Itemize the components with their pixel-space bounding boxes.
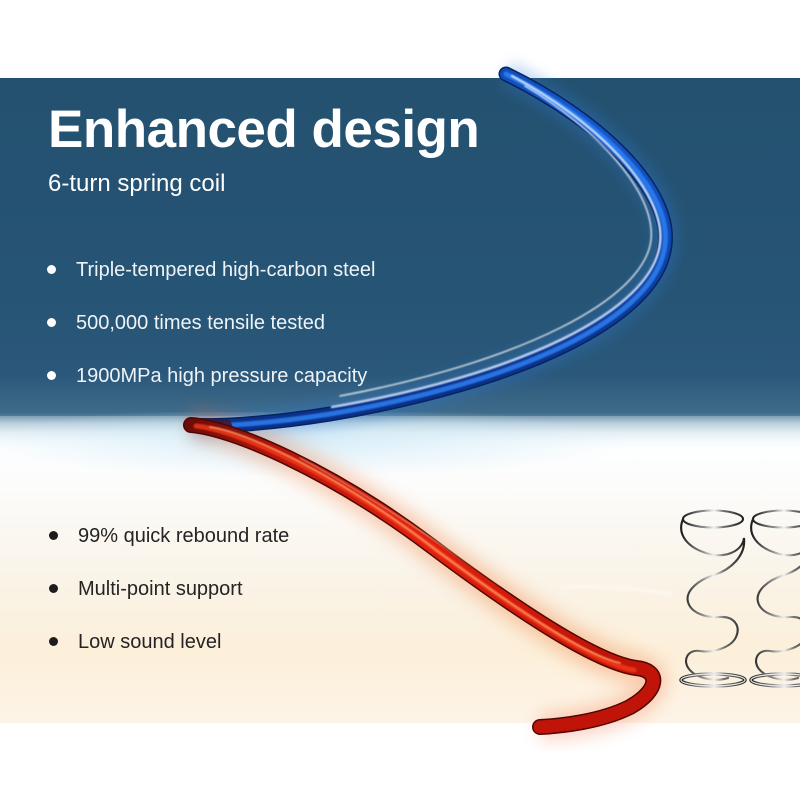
list-item-label: 500,000 times tensile tested [76,313,325,333]
list-item-label: Triple-tempered high-carbon steel [76,260,375,280]
bullet-dot-icon [49,637,58,646]
list-item: 1900MPa high pressure capacity [47,349,375,402]
bullet-dot-icon [49,584,58,593]
bullet-dot-icon [49,531,58,540]
list-item: Triple-tempered high-carbon steel [47,243,375,296]
page-subtitle: 6-turn spring coil [48,172,225,196]
list-item: Multi-point support [49,562,289,615]
list-item: 99% quick rebound rate [49,509,289,562]
bullet-dot-icon [47,265,56,274]
top-white-band [0,0,800,79]
feature-list-upper: Triple-tempered high-carbon steel 500,00… [47,243,375,402]
bullet-dot-icon [47,318,56,327]
list-item: 500,000 times tensile tested [47,296,375,349]
list-item-label: Low sound level [78,632,221,652]
promo-banner: Enhanced design 6-turn spring coil Tripl… [0,0,800,800]
list-item-label: 99% quick rebound rate [78,526,289,546]
bullet-dot-icon [47,371,56,380]
feature-list-lower: 99% quick rebound rate Multi-point suppo… [49,509,289,668]
list-item: Low sound level [49,615,289,668]
bottom-white-band [0,723,800,800]
page-title: Enhanced design [48,103,479,156]
blue-to-cream-fade [0,416,800,450]
list-item-label: 1900MPa high pressure capacity [76,366,367,386]
list-item-label: Multi-point support [78,579,243,599]
